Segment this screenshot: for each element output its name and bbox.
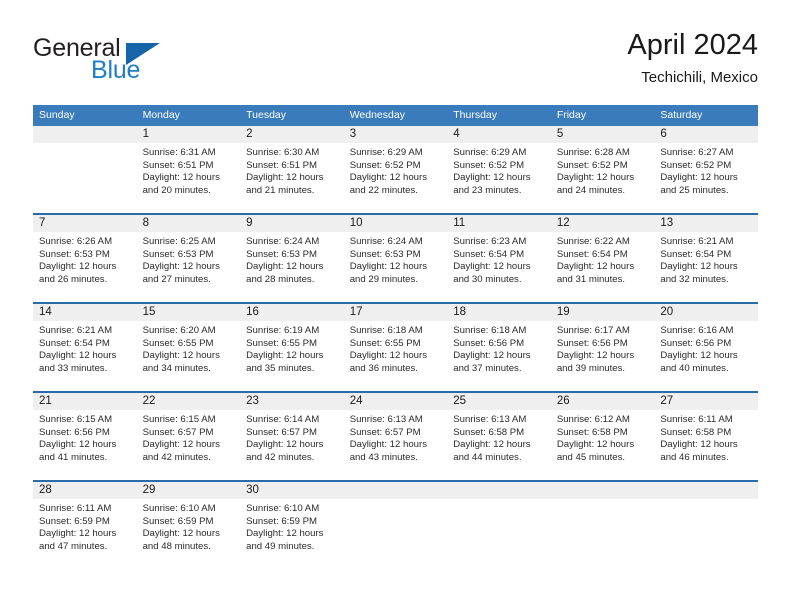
day-detail-daylight1: Daylight: 12 hours xyxy=(246,172,338,185)
day-cell-details: Sunrise: 6:17 AMSunset: 6:56 PMDaylight:… xyxy=(551,321,655,375)
day-number xyxy=(33,126,137,143)
calendar-day-cell[interactable]: 4Sunrise: 6:29 AMSunset: 6:52 PMDaylight… xyxy=(447,126,551,214)
day-detail-sunset: Sunset: 6:53 PM xyxy=(246,249,338,262)
day-cell-details: Sunrise: 6:13 AMSunset: 6:58 PMDaylight:… xyxy=(447,410,551,464)
day-detail-daylight1: Daylight: 12 hours xyxy=(660,350,752,363)
calendar-day-cell[interactable]: 9Sunrise: 6:24 AMSunset: 6:53 PMDaylight… xyxy=(240,214,344,303)
calendar-day-cell[interactable]: 20Sunrise: 6:16 AMSunset: 6:56 PMDayligh… xyxy=(654,303,758,392)
calendar-day-cell[interactable]: 23Sunrise: 6:14 AMSunset: 6:57 PMDayligh… xyxy=(240,392,344,481)
calendar-day-cell[interactable]: 16Sunrise: 6:19 AMSunset: 6:55 PMDayligh… xyxy=(240,303,344,392)
day-detail-daylight2: and 30 minutes. xyxy=(453,274,545,287)
day-detail-sunset: Sunset: 6:51 PM xyxy=(246,160,338,173)
day-detail-daylight2: and 40 minutes. xyxy=(660,363,752,376)
day-detail-daylight1: Daylight: 12 hours xyxy=(557,172,649,185)
day-detail-daylight1: Daylight: 12 hours xyxy=(453,439,545,452)
day-detail-daylight2: and 49 minutes. xyxy=(246,541,338,554)
general-blue-logo[interactable]: General Blue xyxy=(33,34,263,94)
calendar-day-cell[interactable]: 30Sunrise: 6:10 AMSunset: 6:59 PMDayligh… xyxy=(240,481,344,569)
day-number: 28 xyxy=(33,482,137,499)
day-detail-daylight2: and 26 minutes. xyxy=(39,274,131,287)
day-cell-inner: 22Sunrise: 6:15 AMSunset: 6:57 PMDayligh… xyxy=(137,393,241,480)
day-detail-sunrise: Sunrise: 6:23 AM xyxy=(453,236,545,249)
day-cell-inner: 18Sunrise: 6:18 AMSunset: 6:56 PMDayligh… xyxy=(447,304,551,391)
day-detail-daylight1: Daylight: 12 hours xyxy=(246,350,338,363)
day-detail-sunrise: Sunrise: 6:18 AM xyxy=(350,325,442,338)
day-detail-daylight1: Daylight: 12 hours xyxy=(557,261,649,274)
day-number: 30 xyxy=(240,482,344,499)
calendar-day-cell[interactable]: 5Sunrise: 6:28 AMSunset: 6:52 PMDaylight… xyxy=(551,126,655,214)
day-detail-daylight2: and 29 minutes. xyxy=(350,274,442,287)
day-cell-details: Sunrise: 6:18 AMSunset: 6:56 PMDaylight:… xyxy=(447,321,551,375)
calendar-day-cell-empty xyxy=(654,481,758,569)
day-detail-daylight2: and 35 minutes. xyxy=(246,363,338,376)
day-detail-daylight1: Daylight: 12 hours xyxy=(246,261,338,274)
day-cell-inner: 7Sunrise: 6:26 AMSunset: 6:53 PMDaylight… xyxy=(33,215,137,302)
day-detail-sunrise: Sunrise: 6:26 AM xyxy=(39,236,131,249)
day-detail-sunrise: Sunrise: 6:21 AM xyxy=(660,236,752,249)
day-cell-details: Sunrise: 6:22 AMSunset: 6:54 PMDaylight:… xyxy=(551,232,655,286)
day-number: 29 xyxy=(137,482,241,499)
calendar-day-cell[interactable]: 28Sunrise: 6:11 AMSunset: 6:59 PMDayligh… xyxy=(33,481,137,569)
day-detail-sunset: Sunset: 6:56 PM xyxy=(557,338,649,351)
weekday-header-monday: Monday xyxy=(137,105,241,126)
day-cell-inner: 27Sunrise: 6:11 AMSunset: 6:58 PMDayligh… xyxy=(654,393,758,480)
calendar-day-cell[interactable]: 25Sunrise: 6:13 AMSunset: 6:58 PMDayligh… xyxy=(447,392,551,481)
day-cell-inner: 8Sunrise: 6:25 AMSunset: 6:53 PMDaylight… xyxy=(137,215,241,302)
calendar-day-cell[interactable]: 11Sunrise: 6:23 AMSunset: 6:54 PMDayligh… xyxy=(447,214,551,303)
day-number xyxy=(551,482,655,499)
day-detail-daylight2: and 27 minutes. xyxy=(143,274,235,287)
calendar-week-row: 21Sunrise: 6:15 AMSunset: 6:56 PMDayligh… xyxy=(33,392,758,481)
day-detail-daylight2: and 41 minutes. xyxy=(39,452,131,465)
day-cell-inner: 20Sunrise: 6:16 AMSunset: 6:56 PMDayligh… xyxy=(654,304,758,391)
day-number: 3 xyxy=(344,126,448,143)
day-cell-inner: 5Sunrise: 6:28 AMSunset: 6:52 PMDaylight… xyxy=(551,126,655,213)
day-detail-daylight2: and 32 minutes. xyxy=(660,274,752,287)
day-cell-details: Sunrise: 6:16 AMSunset: 6:56 PMDaylight:… xyxy=(654,321,758,375)
day-detail-daylight2: and 22 minutes. xyxy=(350,185,442,198)
day-detail-daylight2: and 28 minutes. xyxy=(246,274,338,287)
day-detail-daylight2: and 47 minutes. xyxy=(39,541,131,554)
calendar-day-cell[interactable]: 10Sunrise: 6:24 AMSunset: 6:53 PMDayligh… xyxy=(344,214,448,303)
calendar-page: General Blue April 2024 Techichili, Mexi… xyxy=(0,0,792,612)
day-number: 5 xyxy=(551,126,655,143)
day-detail-sunrise: Sunrise: 6:17 AM xyxy=(557,325,649,338)
day-detail-sunset: Sunset: 6:53 PM xyxy=(39,249,131,262)
day-detail-sunset: Sunset: 6:57 PM xyxy=(246,427,338,440)
day-number: 16 xyxy=(240,304,344,321)
day-number: 22 xyxy=(137,393,241,410)
calendar-header-row: Sunday Monday Tuesday Wednesday Thursday… xyxy=(33,105,758,126)
day-cell-inner xyxy=(344,482,448,569)
day-detail-daylight1: Daylight: 12 hours xyxy=(557,350,649,363)
calendar-day-cell-empty xyxy=(551,481,655,569)
day-detail-sunrise: Sunrise: 6:11 AM xyxy=(39,503,131,516)
day-detail-daylight2: and 42 minutes. xyxy=(143,452,235,465)
day-detail-sunset: Sunset: 6:57 PM xyxy=(350,427,442,440)
day-cell-inner: 24Sunrise: 6:13 AMSunset: 6:57 PMDayligh… xyxy=(344,393,448,480)
calendar-day-cell[interactable]: 2Sunrise: 6:30 AMSunset: 6:51 PMDaylight… xyxy=(240,126,344,214)
day-detail-sunrise: Sunrise: 6:14 AM xyxy=(246,414,338,427)
day-cell-details: Sunrise: 6:24 AMSunset: 6:53 PMDaylight:… xyxy=(240,232,344,286)
day-detail-sunset: Sunset: 6:55 PM xyxy=(143,338,235,351)
day-detail-sunset: Sunset: 6:54 PM xyxy=(453,249,545,262)
day-detail-sunset: Sunset: 6:53 PM xyxy=(350,249,442,262)
day-number: 4 xyxy=(447,126,551,143)
calendar-day-cell[interactable]: 24Sunrise: 6:13 AMSunset: 6:57 PMDayligh… xyxy=(344,392,448,481)
day-number: 15 xyxy=(137,304,241,321)
day-detail-daylight1: Daylight: 12 hours xyxy=(39,528,131,541)
day-cell-details: Sunrise: 6:14 AMSunset: 6:57 PMDaylight:… xyxy=(240,410,344,464)
day-detail-sunset: Sunset: 6:55 PM xyxy=(350,338,442,351)
day-cell-inner: 25Sunrise: 6:13 AMSunset: 6:58 PMDayligh… xyxy=(447,393,551,480)
day-detail-daylight1: Daylight: 12 hours xyxy=(143,528,235,541)
day-cell-inner: 14Sunrise: 6:21 AMSunset: 6:54 PMDayligh… xyxy=(33,304,137,391)
day-detail-daylight1: Daylight: 12 hours xyxy=(350,261,442,274)
day-cell-details: Sunrise: 6:25 AMSunset: 6:53 PMDaylight:… xyxy=(137,232,241,286)
day-detail-daylight1: Daylight: 12 hours xyxy=(143,439,235,452)
day-detail-daylight1: Daylight: 12 hours xyxy=(453,172,545,185)
calendar-body: 1Sunrise: 6:31 AMSunset: 6:51 PMDaylight… xyxy=(33,126,758,569)
day-detail-sunset: Sunset: 6:54 PM xyxy=(39,338,131,351)
day-detail-daylight2: and 46 minutes. xyxy=(660,452,752,465)
day-detail-sunset: Sunset: 6:59 PM xyxy=(143,516,235,529)
day-number: 23 xyxy=(240,393,344,410)
day-cell-details: Sunrise: 6:29 AMSunset: 6:52 PMDaylight:… xyxy=(344,143,448,197)
calendar-day-cell[interactable]: 8Sunrise: 6:25 AMSunset: 6:53 PMDaylight… xyxy=(137,214,241,303)
day-detail-sunset: Sunset: 6:58 PM xyxy=(453,427,545,440)
day-detail-sunset: Sunset: 6:54 PM xyxy=(660,249,752,262)
weekday-header-thursday: Thursday xyxy=(447,105,551,126)
day-cell-inner: 17Sunrise: 6:18 AMSunset: 6:55 PMDayligh… xyxy=(344,304,448,391)
day-detail-daylight1: Daylight: 12 hours xyxy=(453,261,545,274)
calendar-week-row: 7Sunrise: 6:26 AMSunset: 6:53 PMDaylight… xyxy=(33,214,758,303)
page-header: General Blue April 2024 Techichili, Mexi… xyxy=(33,28,758,96)
day-number: 8 xyxy=(137,215,241,232)
calendar-day-cell[interactable]: 22Sunrise: 6:15 AMSunset: 6:57 PMDayligh… xyxy=(137,392,241,481)
day-cell-inner: 4Sunrise: 6:29 AMSunset: 6:52 PMDaylight… xyxy=(447,126,551,213)
day-detail-daylight1: Daylight: 12 hours xyxy=(660,172,752,185)
calendar-table: Sunday Monday Tuesday Wednesday Thursday… xyxy=(33,105,758,569)
day-detail-daylight1: Daylight: 12 hours xyxy=(143,350,235,363)
day-detail-sunrise: Sunrise: 6:24 AM xyxy=(246,236,338,249)
calendar-day-cell[interactable]: 14Sunrise: 6:21 AMSunset: 6:54 PMDayligh… xyxy=(33,303,137,392)
day-detail-sunset: Sunset: 6:59 PM xyxy=(246,516,338,529)
day-number: 11 xyxy=(447,215,551,232)
weekday-header-tuesday: Tuesday xyxy=(240,105,344,126)
day-cell-details: Sunrise: 6:28 AMSunset: 6:52 PMDaylight:… xyxy=(551,143,655,197)
day-detail-daylight1: Daylight: 12 hours xyxy=(660,439,752,452)
day-number: 21 xyxy=(33,393,137,410)
day-detail-daylight2: and 20 minutes. xyxy=(143,185,235,198)
day-cell-inner: 23Sunrise: 6:14 AMSunset: 6:57 PMDayligh… xyxy=(240,393,344,480)
day-number: 19 xyxy=(551,304,655,321)
day-detail-sunrise: Sunrise: 6:11 AM xyxy=(660,414,752,427)
day-number: 26 xyxy=(551,393,655,410)
day-cell-inner: 28Sunrise: 6:11 AMSunset: 6:59 PMDayligh… xyxy=(33,482,137,569)
day-detail-sunrise: Sunrise: 6:15 AM xyxy=(39,414,131,427)
day-detail-daylight2: and 42 minutes. xyxy=(246,452,338,465)
day-detail-sunset: Sunset: 6:56 PM xyxy=(39,427,131,440)
weekday-header-saturday: Saturday xyxy=(654,105,758,126)
calendar-day-cell[interactable]: 6Sunrise: 6:27 AMSunset: 6:52 PMDaylight… xyxy=(654,126,758,214)
calendar-day-cell[interactable]: 1Sunrise: 6:31 AMSunset: 6:51 PMDaylight… xyxy=(137,126,241,214)
day-detail-daylight2: and 43 minutes. xyxy=(350,452,442,465)
day-cell-details: Sunrise: 6:30 AMSunset: 6:51 PMDaylight:… xyxy=(240,143,344,197)
day-detail-sunset: Sunset: 6:56 PM xyxy=(453,338,545,351)
day-detail-sunrise: Sunrise: 6:29 AM xyxy=(453,147,545,160)
day-detail-daylight2: and 23 minutes. xyxy=(453,185,545,198)
day-detail-sunrise: Sunrise: 6:21 AM xyxy=(39,325,131,338)
day-cell-inner: 1Sunrise: 6:31 AMSunset: 6:51 PMDaylight… xyxy=(137,126,241,213)
day-number xyxy=(447,482,551,499)
day-detail-daylight1: Daylight: 12 hours xyxy=(143,261,235,274)
day-cell-inner: 9Sunrise: 6:24 AMSunset: 6:53 PMDaylight… xyxy=(240,215,344,302)
day-number: 24 xyxy=(344,393,448,410)
calendar-day-cell[interactable]: 3Sunrise: 6:29 AMSunset: 6:52 PMDaylight… xyxy=(344,126,448,214)
day-cell-details: Sunrise: 6:15 AMSunset: 6:56 PMDaylight:… xyxy=(33,410,137,464)
calendar-day-cell[interactable]: 17Sunrise: 6:18 AMSunset: 6:55 PMDayligh… xyxy=(344,303,448,392)
day-detail-daylight2: and 34 minutes. xyxy=(143,363,235,376)
day-detail-sunrise: Sunrise: 6:10 AM xyxy=(143,503,235,516)
day-cell-inner: 15Sunrise: 6:20 AMSunset: 6:55 PMDayligh… xyxy=(137,304,241,391)
day-cell-inner: 2Sunrise: 6:30 AMSunset: 6:51 PMDaylight… xyxy=(240,126,344,213)
day-cell-details: Sunrise: 6:23 AMSunset: 6:54 PMDaylight:… xyxy=(447,232,551,286)
day-number: 10 xyxy=(344,215,448,232)
day-cell-inner: 21Sunrise: 6:15 AMSunset: 6:56 PMDayligh… xyxy=(33,393,137,480)
day-cell-details: Sunrise: 6:31 AMSunset: 6:51 PMDaylight:… xyxy=(137,143,241,197)
day-detail-daylight2: and 45 minutes. xyxy=(557,452,649,465)
day-number: 6 xyxy=(654,126,758,143)
day-cell-inner: 26Sunrise: 6:12 AMSunset: 6:58 PMDayligh… xyxy=(551,393,655,480)
day-cell-inner xyxy=(654,482,758,569)
day-cell-details: Sunrise: 6:27 AMSunset: 6:52 PMDaylight:… xyxy=(654,143,758,197)
day-detail-daylight1: Daylight: 12 hours xyxy=(350,172,442,185)
title-block: April 2024 Techichili, Mexico xyxy=(627,28,758,88)
day-detail-sunset: Sunset: 6:57 PM xyxy=(143,427,235,440)
day-detail-sunrise: Sunrise: 6:20 AM xyxy=(143,325,235,338)
day-number xyxy=(344,482,448,499)
weekday-header-wednesday: Wednesday xyxy=(344,105,448,126)
day-detail-daylight1: Daylight: 12 hours xyxy=(246,528,338,541)
day-detail-sunset: Sunset: 6:52 PM xyxy=(453,160,545,173)
day-cell-inner xyxy=(551,482,655,569)
day-detail-sunrise: Sunrise: 6:27 AM xyxy=(660,147,752,160)
calendar-day-cell[interactable]: 7Sunrise: 6:26 AMSunset: 6:53 PMDaylight… xyxy=(33,214,137,303)
day-detail-sunrise: Sunrise: 6:13 AM xyxy=(453,414,545,427)
calendar-week-row: 28Sunrise: 6:11 AMSunset: 6:59 PMDayligh… xyxy=(33,481,758,569)
page-title: April 2024 xyxy=(627,28,758,62)
day-detail-daylight2: and 33 minutes. xyxy=(39,363,131,376)
day-detail-daylight1: Daylight: 12 hours xyxy=(39,261,131,274)
day-detail-daylight1: Daylight: 12 hours xyxy=(143,172,235,185)
day-number: 1 xyxy=(137,126,241,143)
day-number: 25 xyxy=(447,393,551,410)
day-detail-sunset: Sunset: 6:58 PM xyxy=(557,427,649,440)
day-cell-inner: 16Sunrise: 6:19 AMSunset: 6:55 PMDayligh… xyxy=(240,304,344,391)
calendar-day-cell-empty xyxy=(447,481,551,569)
day-cell-inner xyxy=(447,482,551,569)
day-number: 27 xyxy=(654,393,758,410)
day-detail-daylight2: and 44 minutes. xyxy=(453,452,545,465)
day-number xyxy=(654,482,758,499)
calendar-day-cell[interactable]: 29Sunrise: 6:10 AMSunset: 6:59 PMDayligh… xyxy=(137,481,241,569)
day-detail-sunset: Sunset: 6:52 PM xyxy=(350,160,442,173)
day-cell-inner: 12Sunrise: 6:22 AMSunset: 6:54 PMDayligh… xyxy=(551,215,655,302)
day-detail-sunset: Sunset: 6:52 PM xyxy=(557,160,649,173)
day-detail-daylight2: and 21 minutes. xyxy=(246,185,338,198)
day-number: 18 xyxy=(447,304,551,321)
day-number: 7 xyxy=(33,215,137,232)
day-cell-inner: 10Sunrise: 6:24 AMSunset: 6:53 PMDayligh… xyxy=(344,215,448,302)
day-detail-daylight2: and 48 minutes. xyxy=(143,541,235,554)
day-number: 14 xyxy=(33,304,137,321)
day-number: 9 xyxy=(240,215,344,232)
day-cell-details: Sunrise: 6:21 AMSunset: 6:54 PMDaylight:… xyxy=(33,321,137,375)
day-detail-sunrise: Sunrise: 6:18 AM xyxy=(453,325,545,338)
day-cell-details: Sunrise: 6:24 AMSunset: 6:53 PMDaylight:… xyxy=(344,232,448,286)
day-detail-sunrise: Sunrise: 6:13 AM xyxy=(350,414,442,427)
day-detail-sunrise: Sunrise: 6:16 AM xyxy=(660,325,752,338)
calendar-day-cell-empty xyxy=(344,481,448,569)
day-cell-details: Sunrise: 6:26 AMSunset: 6:53 PMDaylight:… xyxy=(33,232,137,286)
day-cell-details: Sunrise: 6:13 AMSunset: 6:57 PMDaylight:… xyxy=(344,410,448,464)
day-cell-details: Sunrise: 6:10 AMSunset: 6:59 PMDaylight:… xyxy=(137,499,241,553)
day-cell-details: Sunrise: 6:11 AMSunset: 6:58 PMDaylight:… xyxy=(654,410,758,464)
day-detail-sunrise: Sunrise: 6:15 AM xyxy=(143,414,235,427)
day-detail-sunset: Sunset: 6:59 PM xyxy=(39,516,131,529)
day-number: 20 xyxy=(654,304,758,321)
day-detail-sunset: Sunset: 6:58 PM xyxy=(660,427,752,440)
day-cell-inner xyxy=(33,126,137,213)
day-cell-inner: 3Sunrise: 6:29 AMSunset: 6:52 PMDaylight… xyxy=(344,126,448,213)
calendar-day-cell[interactable]: 18Sunrise: 6:18 AMSunset: 6:56 PMDayligh… xyxy=(447,303,551,392)
day-detail-sunset: Sunset: 6:55 PM xyxy=(246,338,338,351)
day-detail-daylight1: Daylight: 12 hours xyxy=(39,350,131,363)
calendar-day-cell[interactable]: 15Sunrise: 6:20 AMSunset: 6:55 PMDayligh… xyxy=(137,303,241,392)
day-cell-inner: 19Sunrise: 6:17 AMSunset: 6:56 PMDayligh… xyxy=(551,304,655,391)
day-cell-inner: 30Sunrise: 6:10 AMSunset: 6:59 PMDayligh… xyxy=(240,482,344,569)
day-detail-sunset: Sunset: 6:54 PM xyxy=(557,249,649,262)
day-cell-details: Sunrise: 6:11 AMSunset: 6:59 PMDaylight:… xyxy=(33,499,137,553)
day-detail-daylight1: Daylight: 12 hours xyxy=(39,439,131,452)
day-cell-details: Sunrise: 6:19 AMSunset: 6:55 PMDaylight:… xyxy=(240,321,344,375)
day-detail-daylight2: and 37 minutes. xyxy=(453,363,545,376)
page-subtitle-location: Techichili, Mexico xyxy=(627,68,758,88)
day-cell-details: Sunrise: 6:29 AMSunset: 6:52 PMDaylight:… xyxy=(447,143,551,197)
day-detail-sunrise: Sunrise: 6:29 AM xyxy=(350,147,442,160)
day-detail-sunrise: Sunrise: 6:31 AM xyxy=(143,147,235,160)
day-detail-daylight1: Daylight: 12 hours xyxy=(246,439,338,452)
day-detail-sunrise: Sunrise: 6:30 AM xyxy=(246,147,338,160)
day-cell-inner: 29Sunrise: 6:10 AMSunset: 6:59 PMDayligh… xyxy=(137,482,241,569)
day-detail-sunrise: Sunrise: 6:25 AM xyxy=(143,236,235,249)
calendar-day-cell[interactable]: 21Sunrise: 6:15 AMSunset: 6:56 PMDayligh… xyxy=(33,392,137,481)
day-detail-daylight2: and 36 minutes. xyxy=(350,363,442,376)
day-detail-daylight1: Daylight: 12 hours xyxy=(557,439,649,452)
calendar-day-cell[interactable]: 26Sunrise: 6:12 AMSunset: 6:58 PMDayligh… xyxy=(551,392,655,481)
day-detail-sunrise: Sunrise: 6:22 AM xyxy=(557,236,649,249)
day-detail-daylight1: Daylight: 12 hours xyxy=(350,439,442,452)
day-detail-sunset: Sunset: 6:52 PM xyxy=(660,160,752,173)
calendar-day-cell[interactable]: 27Sunrise: 6:11 AMSunset: 6:58 PMDayligh… xyxy=(654,392,758,481)
day-cell-details: Sunrise: 6:18 AMSunset: 6:55 PMDaylight:… xyxy=(344,321,448,375)
day-cell-details: Sunrise: 6:15 AMSunset: 6:57 PMDaylight:… xyxy=(137,410,241,464)
day-detail-sunset: Sunset: 6:56 PM xyxy=(660,338,752,351)
day-detail-sunrise: Sunrise: 6:10 AM xyxy=(246,503,338,516)
calendar-week-row: 14Sunrise: 6:21 AMSunset: 6:54 PMDayligh… xyxy=(33,303,758,392)
day-detail-daylight2: and 25 minutes. xyxy=(660,185,752,198)
day-detail-daylight1: Daylight: 12 hours xyxy=(660,261,752,274)
day-number: 13 xyxy=(654,215,758,232)
day-number: 17 xyxy=(344,304,448,321)
day-cell-details: Sunrise: 6:12 AMSunset: 6:58 PMDaylight:… xyxy=(551,410,655,464)
day-detail-daylight2: and 24 minutes. xyxy=(557,185,649,198)
day-cell-details: Sunrise: 6:10 AMSunset: 6:59 PMDaylight:… xyxy=(240,499,344,553)
calendar-day-cell-empty xyxy=(33,126,137,214)
calendar-day-cell[interactable]: 12Sunrise: 6:22 AMSunset: 6:54 PMDayligh… xyxy=(551,214,655,303)
day-number: 12 xyxy=(551,215,655,232)
day-cell-inner: 6Sunrise: 6:27 AMSunset: 6:52 PMDaylight… xyxy=(654,126,758,213)
logo-text-blue: Blue xyxy=(91,56,140,85)
calendar-day-cell[interactable]: 19Sunrise: 6:17 AMSunset: 6:56 PMDayligh… xyxy=(551,303,655,392)
day-cell-details: Sunrise: 6:21 AMSunset: 6:54 PMDaylight:… xyxy=(654,232,758,286)
day-number: 2 xyxy=(240,126,344,143)
day-detail-daylight2: and 39 minutes. xyxy=(557,363,649,376)
day-detail-daylight2: and 31 minutes. xyxy=(557,274,649,287)
weekday-header-friday: Friday xyxy=(551,105,655,126)
day-cell-details: Sunrise: 6:20 AMSunset: 6:55 PMDaylight:… xyxy=(137,321,241,375)
day-detail-sunrise: Sunrise: 6:24 AM xyxy=(350,236,442,249)
day-detail-sunrise: Sunrise: 6:19 AM xyxy=(246,325,338,338)
day-detail-sunset: Sunset: 6:53 PM xyxy=(143,249,235,262)
day-cell-inner: 11Sunrise: 6:23 AMSunset: 6:54 PMDayligh… xyxy=(447,215,551,302)
day-detail-daylight1: Daylight: 12 hours xyxy=(453,350,545,363)
day-detail-sunrise: Sunrise: 6:12 AM xyxy=(557,414,649,427)
calendar-week-row: 1Sunrise: 6:31 AMSunset: 6:51 PMDaylight… xyxy=(33,126,758,214)
day-detail-daylight1: Daylight: 12 hours xyxy=(350,350,442,363)
day-cell-inner: 13Sunrise: 6:21 AMSunset: 6:54 PMDayligh… xyxy=(654,215,758,302)
weekday-header-sunday: Sunday xyxy=(33,105,137,126)
day-detail-sunrise: Sunrise: 6:28 AM xyxy=(557,147,649,160)
day-detail-sunset: Sunset: 6:51 PM xyxy=(143,160,235,173)
calendar-day-cell[interactable]: 13Sunrise: 6:21 AMSunset: 6:54 PMDayligh… xyxy=(654,214,758,303)
